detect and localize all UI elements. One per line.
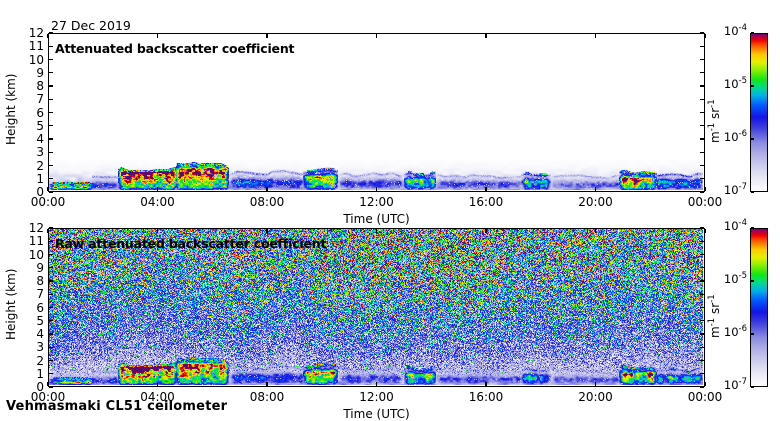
colorbar-gradient-bottom: [751, 229, 767, 386]
colorbar-tick-mark: [751, 227, 754, 228]
date-label: 27 Dec 2019: [51, 18, 131, 33]
y-tick-mark: [49, 347, 53, 348]
x-tick-label: 00:00: [18, 391, 78, 403]
x-tick-mark: [47, 187, 48, 191]
x-tick-label: 20:00: [566, 196, 626, 208]
y-tick-label: 11: [20, 40, 44, 52]
y-tick-mark: [49, 32, 53, 33]
y-tick-label: 6: [20, 107, 44, 119]
y-tick-mark: [700, 99, 704, 100]
y-tick-label: 12: [20, 27, 44, 39]
y-tick-mark: [700, 294, 704, 295]
colorbar-gradient-top: [751, 34, 767, 191]
x-tick-mark: [485, 229, 486, 233]
x-tick-mark: [704, 34, 705, 38]
colorbar-top[interactable]: [750, 33, 768, 192]
x-tick-mark: [595, 229, 596, 233]
x-tick-mark: [704, 229, 705, 233]
x-tick-mark: [266, 382, 267, 386]
x-tick-label: 08:00: [237, 196, 297, 208]
y-tick-mark: [700, 373, 704, 374]
y-tick-label: 8: [20, 275, 44, 287]
x-tick-label: 04:00: [128, 391, 188, 403]
y-tick-label: 2: [20, 355, 44, 367]
y-axis-title-top: Height (km): [4, 73, 18, 144]
colorbar-tick-mark: [751, 32, 754, 33]
y-axis-title-bottom: Height (km): [4, 268, 18, 339]
x-tick-mark: [376, 187, 377, 191]
x-tick-mark: [266, 34, 267, 38]
y-tick-mark: [49, 125, 53, 126]
x-tick-mark: [157, 34, 158, 38]
y-tick-mark: [700, 85, 704, 86]
y-tick-label: 1: [20, 173, 44, 185]
heatmap-top: [49, 34, 703, 190]
x-tick-mark: [266, 187, 267, 191]
y-tick-mark: [700, 112, 704, 113]
y-tick-mark: [49, 191, 53, 192]
x-tick-mark: [157, 229, 158, 233]
colorbar-tick-mark: [751, 191, 754, 192]
x-tick-mark: [376, 229, 377, 233]
x-tick-mark: [266, 229, 267, 233]
y-tick-mark: [700, 165, 704, 166]
y-tick-label: 4: [20, 328, 44, 340]
colorbar-tick-label: 10-6: [714, 327, 747, 339]
x-tick-label: 08:00: [237, 391, 297, 403]
y-tick-mark: [49, 254, 53, 255]
x-axis-title-top: Time (UTC): [337, 212, 417, 226]
x-tick-mark: [47, 34, 48, 38]
panel-title-top: Attenuated backscatter coefficient: [55, 41, 294, 56]
y-tick-mark: [700, 125, 704, 126]
colorbar-tick-label: 10-5: [714, 79, 747, 91]
y-tick-label: 10: [20, 54, 44, 66]
x-tick-mark: [595, 34, 596, 38]
y-tick-mark: [49, 386, 53, 387]
colorbar-tick-label: 10-4: [714, 26, 747, 38]
y-tick-mark: [700, 72, 704, 73]
x-tick-label: 20:00: [566, 391, 626, 403]
y-tick-label: 12: [20, 222, 44, 234]
y-tick-mark: [700, 59, 704, 60]
colorbar-tick-mark: [751, 333, 754, 334]
y-tick-mark: [49, 294, 53, 295]
heatmap-bottom: [49, 229, 703, 385]
y-tick-mark: [49, 373, 53, 374]
colorbar-tick-label: 10-7: [714, 380, 747, 392]
x-tick-mark: [704, 187, 705, 191]
y-tick-mark: [49, 99, 53, 100]
y-tick-label: 1: [20, 368, 44, 380]
y-tick-mark: [700, 241, 704, 242]
x-tick-mark: [704, 382, 705, 386]
colorbar-tick-label: 10-4: [714, 221, 747, 233]
x-axis-title-bottom: Time (UTC): [337, 407, 417, 421]
x-tick-mark: [157, 187, 158, 191]
y-tick-label: 7: [20, 288, 44, 300]
y-tick-mark: [49, 85, 53, 86]
colorbar-tick-label: 10-5: [714, 274, 747, 286]
y-tick-mark: [700, 307, 704, 308]
y-tick-label: 6: [20, 302, 44, 314]
x-tick-mark: [157, 382, 158, 386]
y-tick-label: 3: [20, 341, 44, 353]
y-tick-label: 8: [20, 80, 44, 92]
y-tick-mark: [700, 46, 704, 47]
plot-area-top[interactable]: [48, 33, 705, 192]
y-tick-mark: [700, 320, 704, 321]
y-tick-mark: [700, 267, 704, 268]
y-tick-mark: [49, 360, 53, 361]
panel-title-bottom: Raw attenuated backscatter coefficient: [55, 236, 326, 251]
x-tick-mark: [47, 229, 48, 233]
y-tick-label: 5: [20, 120, 44, 132]
y-tick-label: 3: [20, 146, 44, 158]
y-tick-mark: [700, 254, 704, 255]
y-tick-mark: [700, 280, 704, 281]
y-tick-mark: [700, 138, 704, 139]
colorbar-tick-label: 10-7: [714, 185, 747, 197]
y-tick-label: 10: [20, 249, 44, 261]
plot-area-bottom[interactable]: [48, 228, 705, 387]
x-tick-mark: [376, 382, 377, 386]
y-tick-label: 9: [20, 67, 44, 79]
y-tick-mark: [700, 333, 704, 334]
x-tick-label: 00:00: [675, 391, 735, 403]
y-tick-mark: [49, 46, 53, 47]
y-tick-mark: [700, 32, 704, 33]
y-tick-mark: [49, 152, 53, 153]
x-tick-mark: [376, 34, 377, 38]
y-tick-mark: [700, 227, 704, 228]
y-tick-label: 4: [20, 133, 44, 145]
y-tick-mark: [49, 333, 53, 334]
x-tick-label: 00:00: [18, 196, 78, 208]
x-tick-label: 16:00: [456, 196, 516, 208]
x-tick-mark: [595, 187, 596, 191]
y-tick-mark: [49, 267, 53, 268]
x-tick-label: 12:00: [347, 391, 407, 403]
y-tick-mark: [700, 360, 704, 361]
y-tick-mark: [700, 152, 704, 153]
y-tick-mark: [49, 138, 53, 139]
colorbar-bottom[interactable]: [750, 228, 768, 387]
y-tick-mark: [49, 59, 53, 60]
y-tick-mark: [49, 112, 53, 113]
y-tick-mark: [49, 280, 53, 281]
y-tick-label: 11: [20, 235, 44, 247]
x-tick-label: 16:00: [456, 391, 516, 403]
y-tick-label: 2: [20, 160, 44, 172]
x-tick-label: 00:00: [675, 196, 735, 208]
y-tick-mark: [700, 178, 704, 179]
y-tick-label: 5: [20, 315, 44, 327]
figure-canvas: 27 Dec 2019 Attenuated backscatter coeff…: [0, 0, 780, 420]
colorbar-tick-mark: [751, 85, 754, 86]
x-tick-label: 12:00: [347, 196, 407, 208]
y-tick-mark: [49, 165, 53, 166]
x-tick-mark: [595, 382, 596, 386]
y-tick-mark: [49, 241, 53, 242]
x-tick-label: 04:00: [128, 196, 188, 208]
y-tick-mark: [700, 386, 704, 387]
y-tick-mark: [49, 178, 53, 179]
y-tick-mark: [49, 227, 53, 228]
x-tick-mark: [485, 382, 486, 386]
colorbar-tick-mark: [751, 138, 754, 139]
y-tick-mark: [49, 320, 53, 321]
x-tick-mark: [47, 382, 48, 386]
colorbar-tick-label: 10-6: [714, 132, 747, 144]
x-tick-mark: [485, 34, 486, 38]
y-tick-label: 9: [20, 262, 44, 274]
y-tick-mark: [700, 191, 704, 192]
y-tick-mark: [49, 307, 53, 308]
x-tick-mark: [485, 187, 486, 191]
y-tick-label: 7: [20, 93, 44, 105]
colorbar-tick-mark: [751, 280, 754, 281]
y-tick-mark: [700, 347, 704, 348]
y-tick-mark: [49, 72, 53, 73]
colorbar-tick-mark: [751, 386, 754, 387]
